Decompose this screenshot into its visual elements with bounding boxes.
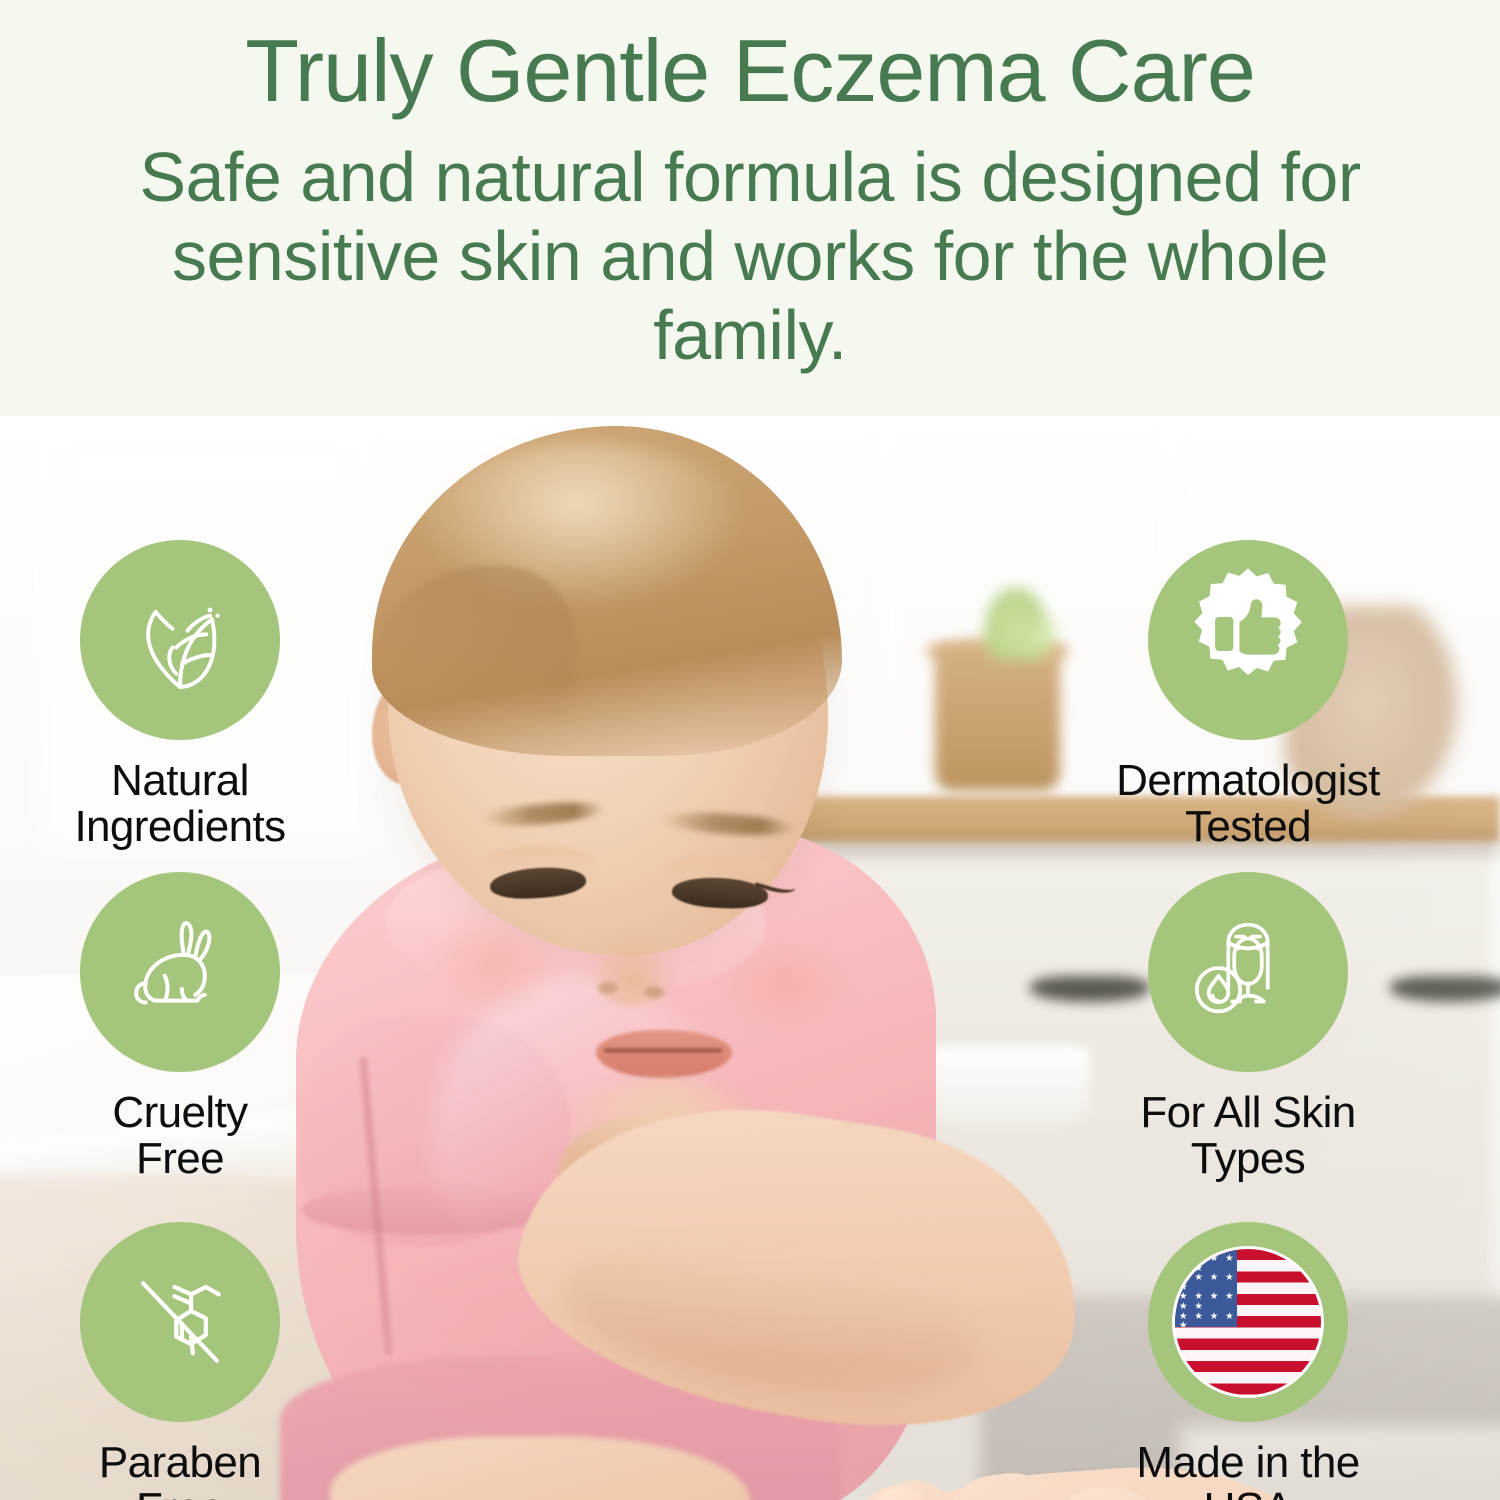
badge-label: For All Skin Types [1140, 1090, 1355, 1182]
badge-label: Natural Ingredients [74, 758, 285, 850]
badge-circle [1148, 872, 1348, 1072]
face-droplet-icon [1185, 909, 1311, 1035]
product-infographic: Truly Gentle Eczema Care Safe and natura… [0, 0, 1500, 1500]
usa-flag-icon: ★ ★ ★ ★ ★ ★★ ★ ★ ★ ★★ ★ ★ ★ ★ ★★ ★ ★ ★ ★… [1175, 1249, 1321, 1395]
thumbs-up-badge-icon [1170, 562, 1326, 718]
badge-dermatologist-tested: Dermatologist Tested [1090, 540, 1406, 850]
badge-circle [80, 540, 280, 740]
badge-label: Dermatologist Tested [1116, 758, 1380, 850]
badge-for-all-skin-types: For All Skin Types [1090, 872, 1406, 1182]
badge-natural-ingredients: Natural Ingredients [22, 540, 338, 850]
badge-paraben-free: Paraben Free [22, 1222, 338, 1500]
badge-circle: ★ ★ ★ ★ ★ ★★ ★ ★ ★ ★★ ★ ★ ★ ★ ★★ ★ ★ ★ ★… [1148, 1222, 1348, 1422]
page-subtitle: Safe and natural formula is designed for… [90, 138, 1410, 375]
page-title: Truly Gentle Eczema Care [245, 26, 1255, 116]
badge-label: Paraben Free [99, 1440, 261, 1500]
leaf-icon [120, 580, 240, 700]
badge-circle [1148, 540, 1348, 740]
rabbit-icon [119, 911, 241, 1033]
badge-cruelty-free: Cruelty Free [22, 872, 338, 1182]
badge-label: Cruelty Free [112, 1090, 247, 1182]
badge-circle [80, 1222, 280, 1422]
badge-circle [80, 872, 280, 1072]
header-band: Truly Gentle Eczema Care Safe and natura… [0, 0, 1500, 416]
badge-made-in-usa: ★ ★ ★ ★ ★ ★★ ★ ★ ★ ★★ ★ ★ ★ ★ ★★ ★ ★ ★ ★… [1090, 1222, 1406, 1500]
no-paraben-icon [121, 1263, 239, 1381]
flag-stars: ★ ★ ★ ★ ★ ★★ ★ ★ ★ ★★ ★ ★ ★ ★ ★★ ★ ★ ★ ★… [1175, 1249, 1237, 1327]
badge-label: Made in the USA [1136, 1440, 1359, 1500]
